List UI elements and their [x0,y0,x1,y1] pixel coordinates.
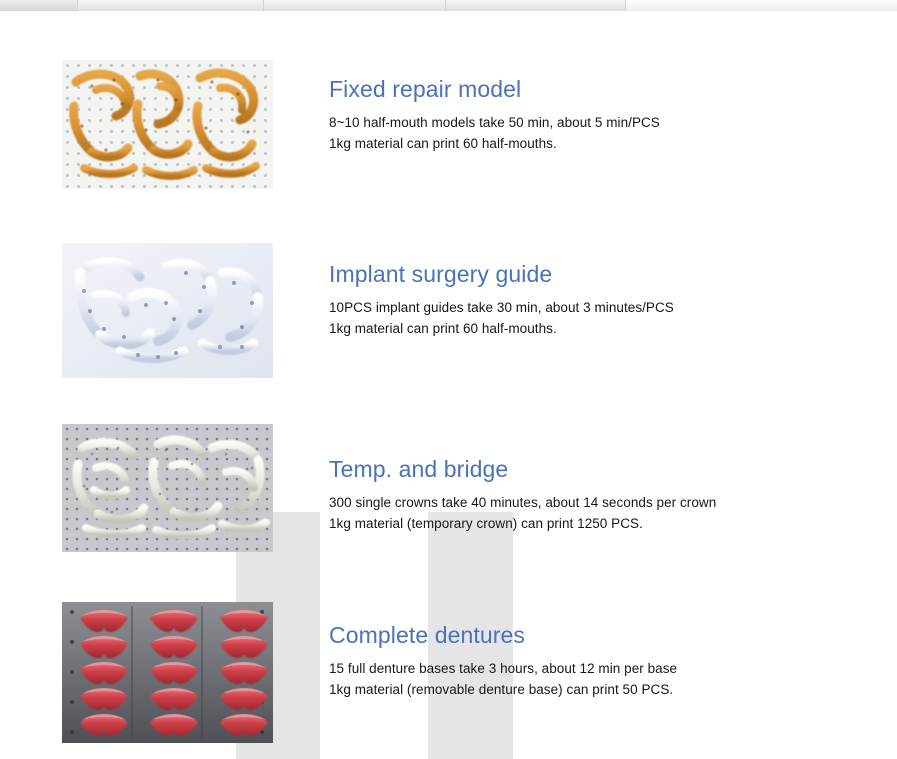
implant-surgery-guide-text: Implant surgery guide 10PCS implant guid… [329,261,849,339]
card-detail-line-1: 10PCS implant guides take 30 min, about … [329,298,849,318]
browser-tab-3[interactable] [264,0,446,11]
card-title: Fixed repair model [329,76,849,102]
card-detail-line-2: 1kg material (removable denture base) ca… [329,680,849,700]
browser-tab-bar [0,0,897,11]
browser-tab-4[interactable] [446,0,626,11]
card-detail-line-1: 15 full denture bases take 3 hours, abou… [329,659,849,679]
card-detail-line-2: 1kg material can print 60 half-mouths. [329,319,849,339]
complete-dentures-photo [62,602,273,743]
browser-tab-1[interactable] [0,0,78,11]
browser-tab-2[interactable] [78,0,264,11]
card-detail-line-1: 300 single crowns take 40 minutes, about… [329,493,849,513]
card-detail-line-2: 1kg material (temporary crown) can print… [329,514,849,534]
temp-and-bridge-text: Temp. and bridge 300 single crowns take … [329,456,849,534]
card-detail-line-1: 8~10 half-mouth models take 50 min, abou… [329,113,849,133]
card-title: Temp. and bridge [329,456,849,482]
card-title: Implant surgery guide [329,261,849,287]
complete-dentures-text: Complete dentures 15 full denture bases … [329,622,849,700]
fixed-repair-model-photo [62,60,273,189]
card-detail-line-2: 1kg material can print 60 half-mouths. [329,134,849,154]
applications-list: Fixed repair model 8~10 half-mouth model… [0,0,897,759]
temp-and-bridge-photo [62,424,273,552]
card-title: Complete dentures [329,622,849,648]
fixed-repair-model-text: Fixed repair model 8~10 half-mouth model… [329,76,849,154]
implant-surgery-guide-photo [62,243,273,378]
browser-tab-5[interactable] [626,0,897,11]
